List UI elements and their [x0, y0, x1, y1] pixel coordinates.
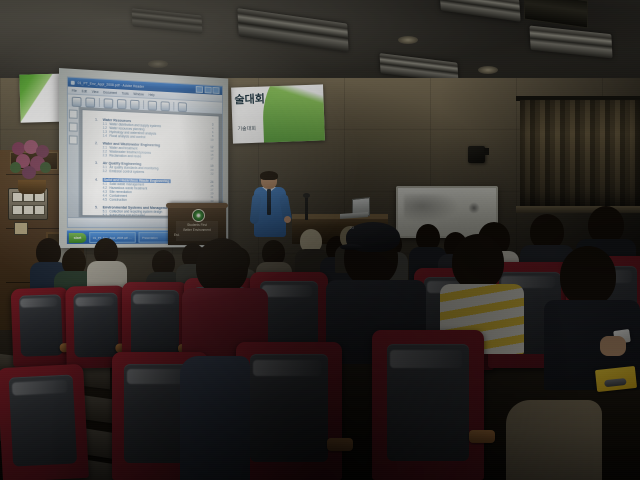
legs	[180, 356, 250, 480]
toc-subsection[interactable]: 4.5Construction33	[95, 197, 213, 202]
ceiling-downlight	[478, 66, 498, 74]
menu-item-window[interactable]: Window	[133, 92, 144, 96]
bookmarks-icon[interactable]	[69, 109, 78, 118]
toc-section-number: 5.	[95, 205, 100, 209]
toc-subsection-title: Emission control systems	[109, 170, 144, 175]
wreath-basket	[18, 180, 46, 194]
toc-section-number: 1.	[95, 118, 100, 122]
zoom-out-icon[interactable]	[117, 99, 126, 109]
toc-subsection-page: 10	[210, 138, 213, 142]
cap-brim	[340, 244, 362, 250]
open-file-icon[interactable]	[72, 96, 82, 106]
window-curtains	[520, 100, 640, 212]
wall-outlet-plate	[14, 222, 28, 235]
next-page-icon[interactable]	[161, 101, 170, 111]
audience-head	[560, 246, 616, 306]
search-icon[interactable]	[178, 102, 187, 112]
whiteboard-marking	[468, 202, 480, 214]
previous-page-icon[interactable]	[148, 100, 157, 110]
toc-section[interactable]: 2.Water and Wastewater Engineering122.1W…	[95, 141, 213, 160]
pdf-page: 1.Water Resources31.1Water distribution …	[82, 109, 220, 217]
banner-right-korean: 술대회	[234, 94, 265, 106]
podium-text-line1: Students First	[174, 223, 220, 227]
toc-section-number: 3.	[95, 161, 100, 165]
toc-section[interactable]: 1.Water Resources31.1Water distribution …	[95, 118, 213, 142]
seat-armrest	[469, 430, 495, 443]
toc-subsection-title: Flood analysis and control	[109, 134, 145, 139]
ceiling-downlight	[148, 60, 168, 68]
menu-item-help[interactable]: Help	[149, 92, 155, 96]
seat-highlight	[75, 296, 114, 306]
auditorium-seat[interactable]	[11, 287, 72, 367]
toc-subsection-page: 22	[210, 172, 213, 176]
lecture-hall-photo: 2 일시 술대회 기술대회 01_PT_Env_Appl_2008.pdf - …	[0, 0, 640, 480]
audience-head	[196, 238, 248, 294]
seat-armrest	[327, 438, 353, 451]
bookmarks-rail[interactable]	[68, 106, 80, 218]
toolbar-separator	[143, 100, 144, 109]
close-button[interactable]	[213, 87, 220, 94]
seat-highlight	[20, 298, 57, 309]
podium-top	[166, 203, 228, 208]
window-sill	[516, 206, 640, 213]
toc-subsection-page: 17	[210, 157, 213, 161]
toolbar-separator	[99, 98, 100, 107]
whiteboard-smudge	[404, 194, 464, 224]
box-product	[604, 378, 627, 387]
zoom-in-icon[interactable]	[130, 99, 139, 109]
toc-subsection-title: Construction	[109, 197, 126, 201]
seat-highlight	[133, 294, 175, 305]
audience-head	[452, 234, 504, 290]
promotional-box[interactable]: promotional-box	[595, 366, 637, 392]
menu-item-file[interactable]: File	[72, 88, 77, 92]
hand	[600, 336, 626, 356]
legs	[506, 400, 602, 480]
app-icon	[71, 80, 75, 84]
presenter-laptop[interactable]	[340, 198, 370, 218]
toc-subsection-title: Reclamation and reuse	[109, 154, 141, 159]
wall-mounted-speaker	[468, 146, 485, 163]
menu-item-edit[interactable]: Edit	[82, 89, 87, 93]
ceiling-downlight	[398, 36, 418, 44]
toc-section[interactable]: 4.Solid and Hazardous Waste Engineering2…	[95, 177, 213, 202]
seat-highlight	[253, 360, 321, 377]
select-tool-icon[interactable]	[104, 98, 114, 108]
menu-item-view[interactable]: View	[92, 89, 99, 93]
menu-item-document[interactable]: Document	[103, 90, 117, 95]
baseball-cap: 22	[346, 222, 400, 252]
banner-swoosh-graphic	[261, 84, 325, 143]
podium-text-line3: Est.	[174, 233, 220, 237]
toolbar-separator	[173, 102, 174, 111]
toc-section-number: 2.	[95, 141, 100, 145]
toc-section-number: 4.	[95, 177, 100, 181]
toc-subsection-number: 3.2	[103, 169, 107, 173]
presenter	[252, 172, 288, 246]
cap-text: 22	[350, 226, 355, 230]
attachments-icon[interactable]	[69, 135, 78, 144]
maximize-button[interactable]	[204, 86, 211, 93]
toc-section[interactable]: 3.Air Quality Engineering193.1Air qualit…	[95, 161, 213, 176]
presenter-right-hand	[284, 216, 291, 223]
print-icon[interactable]	[85, 97, 95, 107]
presenter-tie	[267, 189, 271, 215]
banner-right-sub: 기술대회	[237, 127, 256, 133]
toc-subsection-number: 2.3	[103, 154, 107, 158]
pages-thumbnails-icon[interactable]	[69, 122, 78, 131]
toc-subsection-number: 1.4	[103, 134, 107, 138]
auditorium-seat-front[interactable]	[372, 330, 484, 480]
banner-right: 술대회 기술대회	[231, 84, 325, 143]
menu-item-tools[interactable]: Tools	[122, 91, 129, 95]
auditorium-seat-front[interactable]	[0, 364, 89, 480]
seat-highlight	[390, 350, 462, 368]
podium-text-line2: Better Environment	[174, 228, 220, 232]
minimize-button[interactable]	[196, 86, 203, 93]
flower-wreath	[10, 140, 54, 194]
auditorium-seat-front[interactable]	[236, 342, 342, 480]
gooseneck-microphone	[305, 196, 308, 220]
toc-subsection-page: 33	[210, 199, 213, 203]
presenter-hair	[260, 171, 278, 180]
start-button[interactable]: start	[69, 233, 86, 243]
toc-subsection-number: 4.5	[103, 197, 107, 201]
seat-highlight	[262, 285, 312, 297]
laptop-keyboard	[340, 212, 368, 219]
window-controls[interactable]	[196, 86, 220, 94]
